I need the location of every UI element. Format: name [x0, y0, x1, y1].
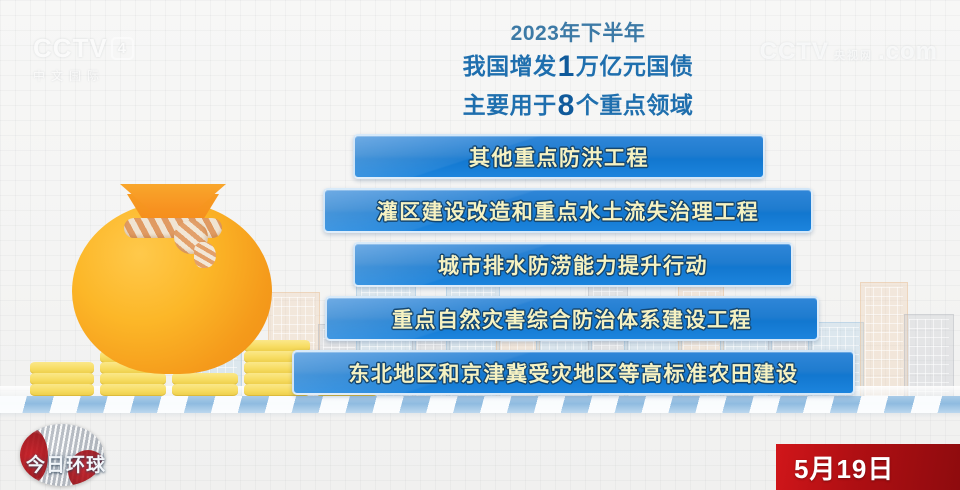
headline-line-bond-issue: 我国增发1万亿元国债 [408, 50, 748, 85]
bar-row: 城市排水防涝能力提升行动 [0, 242, 960, 296]
watermark-wordmark: CCTV [760, 38, 829, 66]
headline-line-key-areas: 主要用于8个重点领域 [408, 89, 748, 124]
headline-line3-suffix: 个重点领域 [576, 92, 694, 118]
headline-line3-prefix: 主要用于 [463, 92, 557, 118]
program-name-label: 今日环球 [7, 450, 125, 477]
cctv-wordmark: CCTV 4 [33, 33, 151, 64]
bar-row: 东北地区和京津冀受灾地区等高标准农田建设 [0, 350, 960, 404]
bar-row: 灌区建设改造和重点水土流失治理工程 [0, 188, 960, 242]
key-area-bar-2-label: 灌区建设改造和重点水土流失治理工程 [377, 196, 760, 226]
date-badge-label: 5月19日 [794, 449, 894, 486]
headline-line2-prefix: 我国增发 [463, 53, 557, 79]
key-area-bar-3-label: 城市排水防涝能力提升行动 [438, 250, 708, 280]
watermark-domain-suffix: .com [878, 38, 938, 66]
key-areas-bar-list: 其他重点防洪工程 灌区建设改造和重点水土流失治理工程 城市排水防涝能力提升行动 … [0, 134, 960, 404]
cctv-channel-number: 4 [111, 37, 134, 60]
cctv-channel-logo: CCTV 4 中文国际 [33, 33, 151, 85]
key-area-bar-4[interactable]: 重点自然灾害综合防治体系建设工程 [325, 296, 819, 341]
key-area-bar-1[interactable]: 其他重点防洪工程 [353, 134, 765, 179]
cctv-channel-subtitle: 中文国际 [33, 67, 151, 84]
program-logo-bug: 今日环球 [2, 424, 128, 486]
headline-amount-number: 1 [557, 50, 576, 83]
key-area-bar-4-label: 重点自然灾害综合防治体系建设工程 [392, 304, 752, 334]
headline-block: 2023年下半年 我国增发1万亿元国债 主要用于8个重点领域 [408, 22, 748, 124]
bar-row: 其他重点防洪工程 [0, 134, 960, 188]
date-badge: 5月19日 [776, 444, 960, 490]
headline-area-count-number: 8 [557, 89, 576, 122]
headline-line-period: 2023年下半年 [408, 22, 748, 46]
cctv-logo-text: CCTV [33, 33, 108, 64]
key-area-bar-1-label: 其他重点防洪工程 [469, 142, 649, 172]
watermark-chinese-label: 央视网 [834, 47, 873, 63]
bar-row: 重点自然灾害综合防治体系建设工程 [0, 296, 960, 350]
broadcast-graphic-stage: 2023年下半年 我国增发1万亿元国债 主要用于8个重点领域 其他重点防洪工程 … [0, 0, 960, 490]
cctv-com-watermark: CCTV 央视网 .com [760, 38, 938, 66]
key-area-bar-2[interactable]: 灌区建设改造和重点水土流失治理工程 [323, 188, 813, 233]
headline-line2-suffix: 万亿元国债 [576, 53, 694, 79]
key-area-bar-5[interactable]: 东北地区和京津冀受灾地区等高标准农田建设 [292, 350, 855, 395]
key-area-bar-5-label: 东北地区和京津冀受灾地区等高标准农田建设 [349, 358, 799, 388]
key-area-bar-3[interactable]: 城市排水防涝能力提升行动 [353, 242, 793, 287]
